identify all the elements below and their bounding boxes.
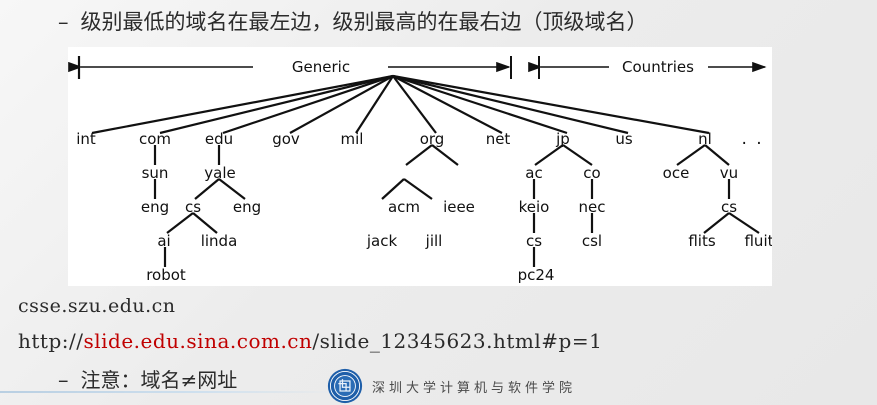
- node-label: oce: [663, 164, 690, 182]
- bullet-dash: –: [58, 10, 69, 34]
- node-label: jill: [425, 232, 443, 250]
- node-label: sun: [142, 164, 169, 182]
- node-label: co: [583, 164, 600, 182]
- tld-ellipsis: . . .: [741, 129, 772, 149]
- root-edges: [92, 76, 709, 133]
- node-label: eng: [233, 198, 261, 216]
- url-path: /slide_12345623.html#p=1: [312, 329, 602, 353]
- tld-label: net: [486, 130, 511, 148]
- node-label: cs: [185, 198, 201, 216]
- note-bullet: – 注意：域名≠网址: [58, 364, 237, 393]
- node-label: cs: [721, 198, 737, 216]
- node-label: flits: [688, 232, 715, 250]
- bullet-dash: –: [58, 368, 69, 392]
- footer-divider: [0, 391, 336, 393]
- footer-org-name: 深圳大学计算机与软件学院: [372, 377, 576, 396]
- span-label-countries: Countries: [622, 58, 694, 76]
- node-label: robot: [146, 266, 186, 284]
- level2-label-group: sun yale acm ieee ac co oce vu: [142, 164, 739, 216]
- node-label: ieee: [443, 198, 475, 216]
- note-text: 注意：域名≠网址: [81, 364, 238, 393]
- node-label: csl: [582, 232, 602, 250]
- node-label: pc24: [518, 266, 555, 284]
- node-label: ac: [525, 164, 542, 182]
- url-example-text: http://slide.edu.sina.com.cn/slide_12345…: [18, 325, 602, 357]
- node-label: vu: [720, 164, 738, 182]
- tld-label: com: [139, 130, 171, 148]
- dns-tree-diagram-panel: Generic Countries: [68, 47, 772, 286]
- university-seal-icon: [327, 368, 363, 404]
- url-scheme: http://: [18, 329, 83, 353]
- node-label: nec: [579, 198, 606, 216]
- node-label: linda: [201, 232, 238, 250]
- tld-label: org: [420, 130, 445, 148]
- node-label: jack: [366, 232, 398, 250]
- span-divider-ticks: [511, 56, 539, 79]
- span-label-generic: Generic: [292, 58, 350, 76]
- node-label: ai: [157, 232, 170, 250]
- level4-label-group: ai linda cs csl flits fluit: [157, 232, 772, 250]
- tld-label-group: int com edu gov mil org net jp us nl . .…: [76, 129, 772, 149]
- heading-bullet: – 级别最低的域名在最左边，级别最高的在最右边（顶级域名）: [58, 6, 648, 36]
- tld-label: us: [615, 130, 633, 148]
- tld-label: nl: [698, 130, 712, 148]
- tld-label: jp: [555, 130, 570, 148]
- tld-label: edu: [205, 130, 233, 148]
- node-label: cs: [526, 232, 542, 250]
- url-text-block: csse.szu.edu.cn http://slide.edu.sina.co…: [18, 292, 602, 357]
- node-label: yale: [204, 164, 235, 182]
- tld-label: int: [76, 130, 96, 148]
- dns-tree-svg: Generic Countries: [68, 47, 772, 286]
- level5-label-group: robot pc24: [146, 266, 554, 284]
- footer: 深圳大学计算机与软件学院: [327, 367, 576, 405]
- node-label: fluit: [744, 232, 772, 250]
- tld-label: gov: [272, 130, 300, 148]
- node-label: acm: [388, 198, 420, 216]
- domain-example-text: csse.szu.edu.cn: [18, 292, 602, 321]
- node-label: keio: [519, 198, 550, 216]
- url-domain-highlight: slide.edu.sina.com.cn: [83, 329, 312, 353]
- tld-label: mil: [341, 130, 364, 148]
- slide-canvas: – 级别最低的域名在最左边，级别最高的在最右边（顶级域名） Generic: [0, 0, 877, 405]
- node-label: eng: [141, 198, 169, 216]
- heading-text: 级别最低的域名在最左边，级别最高的在最右边（顶级域名）: [81, 6, 648, 36]
